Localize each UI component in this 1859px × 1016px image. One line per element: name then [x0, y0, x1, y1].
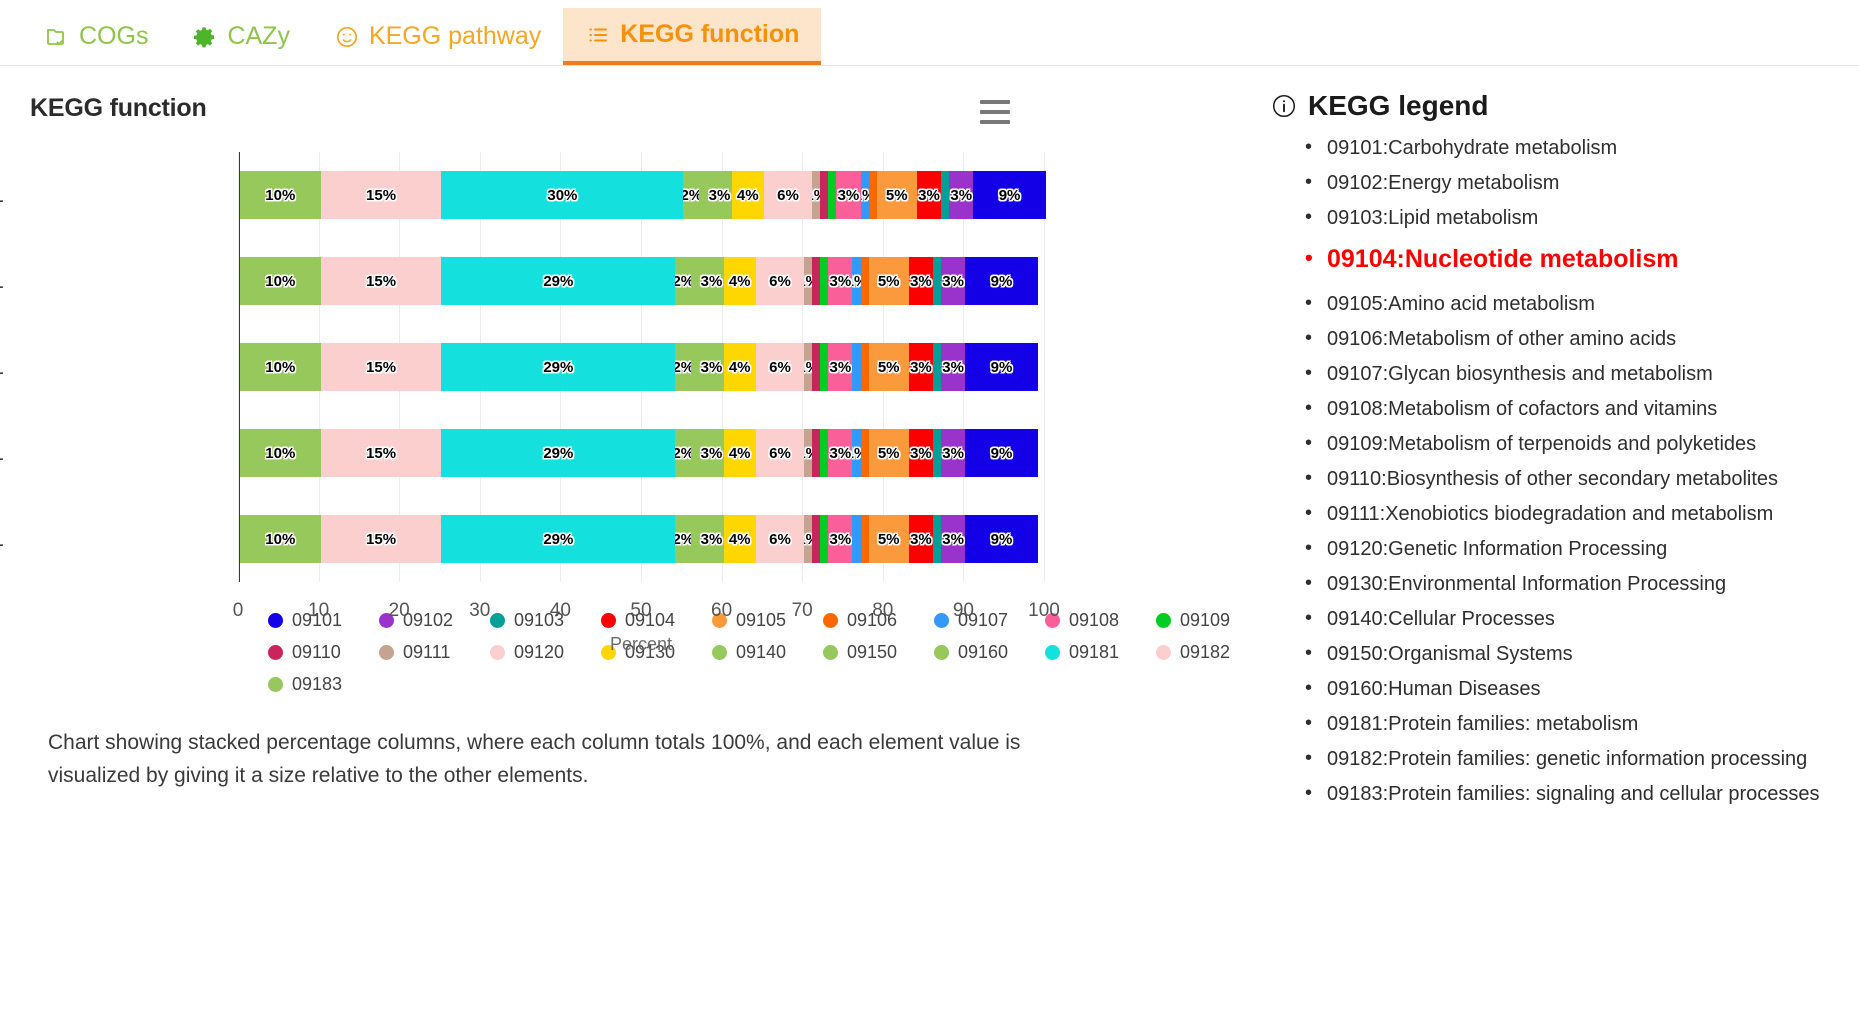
x-axis-tick: 10: [308, 600, 329, 622]
bar-segment[interactable]: [852, 343, 860, 391]
bar-segment[interactable]: [691, 515, 699, 563]
bar-segment[interactable]: 3%: [699, 343, 723, 391]
series-legend-item[interactable]: 09109: [1156, 604, 1267, 636]
bar-segment-label: 4%: [729, 445, 751, 462]
bar-segment[interactable]: [861, 515, 869, 563]
bar-segment[interactable]: 4%: [724, 515, 756, 563]
bar-segment[interactable]: 1%: [852, 257, 860, 305]
bar-segment[interactable]: 5%: [869, 429, 909, 477]
bar-segment[interactable]: 3%: [699, 429, 723, 477]
bar-segment-label: 3%: [910, 359, 932, 376]
bar-segment[interactable]: 3%: [828, 343, 852, 391]
bar-segment[interactable]: 10%: [240, 257, 321, 305]
bar-segment[interactable]: 2%: [675, 515, 691, 563]
list-icon: [585, 22, 611, 48]
bar-segment[interactable]: 9%: [973, 171, 1046, 219]
bar-segment[interactable]: 3%: [949, 171, 973, 219]
bar-segment-label: 1%: [852, 445, 860, 462]
bar-segment-label: 3%: [830, 531, 852, 548]
bar-segment[interactable]: 5%: [869, 343, 909, 391]
bar-segment-label: 3%: [942, 531, 964, 548]
tab-kegg-pathway[interactable]: KEGG pathway: [312, 8, 563, 65]
bar-segment[interactable]: 3%: [699, 515, 723, 563]
bar-segment-label: 3%: [838, 187, 860, 204]
kegg-legend-item[interactable]: 09182:Protein families: genetic informat…: [1323, 745, 1859, 773]
bar-segment-label: 6%: [769, 359, 791, 376]
info-circle-icon: [1271, 93, 1297, 119]
gear-icon: [192, 24, 218, 50]
bar-segment[interactable]: [941, 171, 949, 219]
tab-label: KEGG pathway: [369, 22, 541, 51]
bar-segment[interactable]: [820, 429, 828, 477]
series-legend-label: 09105: [736, 610, 786, 631]
bar-segment-label: 3%: [942, 273, 964, 290]
bar-segment-label: 3%: [701, 273, 723, 290]
chart-caption: Chart showing stacked percentage columns…: [48, 726, 1048, 792]
bar-segment[interactable]: [933, 515, 941, 563]
bar-segment[interactable]: [699, 171, 707, 219]
bar-segment-label: 10%: [265, 273, 295, 290]
bar-segment[interactable]: [861, 257, 869, 305]
bar-segment-label: 1%: [804, 359, 812, 376]
bar-segment[interactable]: [861, 343, 869, 391]
bar-segment-label: 3%: [701, 531, 723, 548]
bar-segment-label: 6%: [769, 445, 791, 462]
tab-label: KEGG function: [620, 20, 799, 49]
bar-segment-label: 15%: [366, 273, 396, 290]
kegg-legend-item[interactable]: 09111:Xenobiotics biodegradation and met…: [1323, 500, 1859, 528]
bar-row: 10%15%29%2%3%4%6%1%3%5%3%3%9%: [240, 515, 1038, 563]
series-legend-swatch: [490, 613, 505, 628]
bar-segment-label: 10%: [265, 445, 295, 462]
bar-segment-label: 1%: [812, 187, 820, 204]
bar-segment-label: 3%: [910, 531, 932, 548]
bar-segment-label: 4%: [729, 359, 751, 376]
series-legend-swatch: [268, 613, 283, 628]
series-legend-swatch: [823, 613, 838, 628]
bar-segment-label: 3%: [830, 273, 852, 290]
bar-segment-label: 29%: [543, 273, 573, 290]
bar-segment[interactable]: 5%: [877, 171, 917, 219]
folder-check-icon: [44, 24, 70, 50]
bar-row: 10%15%29%2%3%4%6%1%3%1%5%3%3%9%: [240, 257, 1038, 305]
y-axis-label: GCA_000154385.1: [0, 343, 4, 391]
bar-segment[interactable]: 6%: [756, 429, 804, 477]
bar-segment[interactable]: 3%: [909, 343, 933, 391]
bar-segment[interactable]: 3%: [941, 515, 965, 563]
bar-segment[interactable]: 4%: [724, 343, 756, 391]
x-axis-tick: 0: [233, 600, 244, 622]
bar-segment-label: 4%: [729, 531, 751, 548]
bar-segment-label: 3%: [950, 187, 972, 204]
bar-segment[interactable]: 3%: [699, 257, 723, 305]
bar-segment[interactable]: 3%: [836, 171, 860, 219]
bar-segment-label: 3%: [701, 359, 723, 376]
bar-segment[interactable]: 5%: [869, 257, 909, 305]
bar-segment[interactable]: 1%: [852, 429, 860, 477]
bar-segment[interactable]: [691, 429, 699, 477]
bar-segment[interactable]: 15%: [321, 429, 442, 477]
series-legend-swatch: [601, 613, 616, 628]
tab-bar: COGs CAZy KEGG pathway: [0, 0, 1859, 66]
bar-segment[interactable]: 3%: [941, 343, 965, 391]
bar-segment-label: 15%: [366, 187, 396, 204]
x-axis-tick: 40: [550, 600, 571, 622]
series-legend-label: 09109: [1180, 610, 1230, 631]
bar-segment-label: 2%: [675, 445, 691, 462]
series-legend-label: 09108: [1069, 610, 1119, 631]
kegg-legend-item[interactable]: 09103:Lipid metabolism: [1323, 204, 1859, 232]
page-title: KEGG function: [30, 94, 207, 123]
bar-segment-label: 15%: [366, 359, 396, 376]
chart-header: KEGG function: [30, 94, 1235, 124]
bar-segment-label: 4%: [737, 187, 759, 204]
bar-segment-label: 9%: [999, 187, 1021, 204]
bar-segment[interactable]: 9%: [965, 429, 1038, 477]
plot-area: 10%15%30%2%3%4%6%1%3%1%5%3%3%9%GCA_00254…: [238, 152, 1044, 582]
bar-segment-label: 2%: [675, 273, 691, 290]
bar-segment[interactable]: 1%: [804, 257, 812, 305]
bar-segment[interactable]: 2%: [675, 429, 691, 477]
bar-segment-label: 3%: [942, 359, 964, 376]
bar-segment[interactable]: 4%: [724, 429, 756, 477]
bar-segment[interactable]: 1%: [812, 171, 820, 219]
bar-segment[interactable]: 3%: [941, 429, 965, 477]
bar-segment-label: 15%: [366, 445, 396, 462]
bar-segment[interactable]: [820, 171, 828, 219]
kegg-legend-item[interactable]: 09107:Glycan biosynthesis and metabolism: [1323, 360, 1859, 388]
bar-segment-label: 3%: [830, 445, 852, 462]
bar-segment[interactable]: 2%: [675, 343, 691, 391]
x-axis-tick: 30: [469, 600, 490, 622]
kegg-legend-item-highlighted[interactable]: 09104:Nucleotide metabolism: [1323, 242, 1859, 277]
bar-segment[interactable]: 2%: [683, 171, 699, 219]
x-axis-tick: 90: [953, 600, 974, 622]
tab-cazy[interactable]: CAZy: [170, 8, 312, 65]
gridline: [238, 152, 239, 582]
series-legend-label: 09181: [1069, 642, 1119, 663]
bar-segment-label: 1%: [804, 531, 812, 548]
bar-segment[interactable]: 9%: [965, 515, 1038, 563]
bar-segment-label: 1%: [852, 273, 860, 290]
series-legend-swatch: [1045, 645, 1060, 660]
bar-segment[interactable]: 6%: [756, 343, 804, 391]
bar-segment[interactable]: 3%: [909, 257, 933, 305]
bar-segment-label: 3%: [701, 445, 723, 462]
bar-segment[interactable]: 6%: [756, 515, 804, 563]
bar-segment[interactable]: [820, 257, 828, 305]
bar-segment-label: 9%: [991, 273, 1013, 290]
bar-segment-label: 6%: [777, 187, 799, 204]
kegg-legend-item[interactable]: 09102:Energy metabolism: [1323, 169, 1859, 197]
bar-segment[interactable]: [812, 429, 820, 477]
tab-cogs[interactable]: COGs: [22, 8, 170, 65]
kegg-legend-item[interactable]: 09105:Amino acid metabolism: [1323, 290, 1859, 318]
bar-segment-label: 29%: [543, 531, 573, 548]
kegg-legend-item[interactable]: 09108:Metabolism of cofactors and vitami…: [1323, 395, 1859, 423]
series-legend-item[interactable]: 09104: [601, 604, 712, 636]
bar-segment[interactable]: 3%: [941, 257, 965, 305]
bar-segment-label: 2%: [675, 359, 691, 376]
tab-label: COGs: [79, 22, 148, 51]
x-axis-tick: 80: [872, 600, 893, 622]
kegg-legend-item[interactable]: 09120:Genetic Information Processing: [1323, 535, 1859, 563]
bar-segment[interactable]: 10%: [240, 429, 321, 477]
x-axis-tick: 20: [389, 600, 410, 622]
series-legend-swatch: [934, 613, 949, 628]
smiley-icon: [334, 24, 360, 50]
bar-segment[interactable]: 1%: [804, 343, 812, 391]
bar-row: 10%15%29%2%3%4%6%1%3%1%5%3%3%9%: [240, 429, 1038, 477]
bar-segment[interactable]: [691, 343, 699, 391]
bar-segment[interactable]: 1%: [861, 171, 869, 219]
tab-kegg-function[interactable]: KEGG function: [563, 8, 821, 65]
kegg-legend-item[interactable]: 09160:Human Diseases: [1323, 675, 1859, 703]
bar-segment[interactable]: [820, 343, 828, 391]
x-axis-tick: 60: [711, 600, 732, 622]
bar-segment-label: 2%: [683, 187, 699, 204]
bar-segment[interactable]: 15%: [321, 171, 442, 219]
series-legend-item[interactable]: 09182: [1156, 636, 1267, 668]
bar-segment[interactable]: [861, 429, 869, 477]
bar-segment[interactable]: 3%: [917, 171, 941, 219]
bar-segment-label: 5%: [878, 273, 900, 290]
series-legend-label: 09102: [403, 610, 453, 631]
bar-segment[interactable]: 3%: [828, 429, 852, 477]
bar-segment[interactable]: 3%: [828, 257, 852, 305]
bar-segment[interactable]: 29%: [441, 515, 675, 563]
bar-segment-label: 10%: [265, 359, 295, 376]
bar-segment-label: 5%: [878, 359, 900, 376]
chart-panel: KEGG function 10%15%30%2%3%4%6%1%3%1%5%3…: [0, 66, 1265, 815]
bar-row: 10%15%30%2%3%4%6%1%3%1%5%3%3%9%: [240, 171, 1046, 219]
bar-segment[interactable]: [691, 257, 699, 305]
series-legend-label: 09183: [292, 674, 342, 695]
bar-segment[interactable]: 15%: [321, 257, 442, 305]
y-axis-label: GCA_902373685.1: [0, 515, 4, 563]
legend-title-text: KEGG legend: [1308, 90, 1488, 122]
bar-segment[interactable]: 15%: [321, 343, 442, 391]
bar-row: 10%15%29%2%3%4%6%1%3%5%3%3%9%: [240, 343, 1038, 391]
x-axis-tick: 50: [630, 600, 651, 622]
bar-segment-label: 1%: [861, 187, 869, 204]
bar-segment[interactable]: [933, 343, 941, 391]
bar-segment-label: 3%: [910, 273, 932, 290]
bar-segment[interactable]: [933, 429, 941, 477]
series-legend-swatch: [268, 677, 283, 692]
bar-segment[interactable]: 1%: [804, 515, 812, 563]
bar-segment[interactable]: [933, 257, 941, 305]
bar-segment-label: 9%: [991, 445, 1013, 462]
y-axis-label: GCA_000209855.1: [0, 257, 4, 305]
bar-segment-label: 3%: [918, 187, 940, 204]
bar-segment-label: 5%: [878, 445, 900, 462]
kegg-legend-item[interactable]: 09106:Metabolism of other amino acids: [1323, 325, 1859, 353]
chart-card: KEGG function 10%15%30%2%3%4%6%1%3%1%5%3…: [0, 66, 1265, 792]
bar-segment[interactable]: 1%: [804, 429, 812, 477]
bar-segment[interactable]: 6%: [764, 171, 812, 219]
bar-segment-label: 3%: [942, 445, 964, 462]
bar-segment[interactable]: [852, 515, 860, 563]
kegg-legend-item[interactable]: 09109:Metabolism of terpenoids and polyk…: [1323, 430, 1859, 458]
series-legend-swatch: [1156, 645, 1171, 660]
bar-segment-label: 29%: [543, 359, 573, 376]
kegg-legend-title: KEGG legend: [1271, 90, 1859, 122]
bar-segment-label: 10%: [265, 187, 295, 204]
bar-segment[interactable]: 9%: [965, 343, 1038, 391]
y-axis-label: GCA_002549935.1: [0, 171, 4, 219]
bar-segment-label: 4%: [729, 273, 751, 290]
bar-segment[interactable]: 9%: [965, 257, 1038, 305]
bar-segment-label: 3%: [709, 187, 731, 204]
kegg-legend-item[interactable]: 09150:Organismal Systems: [1323, 640, 1859, 668]
bar-segment[interactable]: 2%: [675, 257, 691, 305]
page-body: KEGG function 10%15%30%2%3%4%6%1%3%1%5%3…: [0, 66, 1859, 815]
bar-segment-label: 30%: [547, 187, 577, 204]
bar-segment[interactable]: 4%: [732, 171, 764, 219]
bar-segment-label: 9%: [991, 359, 1013, 376]
bar-segment[interactable]: 15%: [321, 515, 442, 563]
bar-segment[interactable]: 30%: [441, 171, 683, 219]
y-axis-label: GCA_014868615.1: [0, 429, 4, 477]
bar-segment-label: 3%: [830, 359, 852, 376]
bar-segment[interactable]: 3%: [828, 515, 852, 563]
bar-segment-label: 1%: [804, 273, 812, 290]
hamburger-menu-icon[interactable]: [980, 100, 1010, 124]
kegg-legend-item[interactable]: 09130:Environmental Information Processi…: [1323, 570, 1859, 598]
bar-segment-label: 15%: [366, 531, 396, 548]
bar-segment[interactable]: 3%: [707, 171, 731, 219]
kegg-legend-item[interactable]: 09110:Biosynthesis of other secondary me…: [1323, 465, 1859, 493]
bar-segment[interactable]: 4%: [724, 257, 756, 305]
bar-segment-label: 29%: [543, 445, 573, 462]
series-legend-label: 09182: [1180, 642, 1230, 663]
kegg-legend-item[interactable]: 09181:Protein families: metabolism: [1323, 710, 1859, 738]
series-legend-item[interactable]: 09183: [268, 668, 379, 700]
kegg-legend-panel: KEGG legend 09101:Carbohydrate metabolis…: [1265, 66, 1859, 815]
series-legend-item[interactable]: 09181: [1045, 636, 1156, 668]
bar-segment-label: 5%: [886, 187, 908, 204]
tab-label: CAZy: [227, 22, 290, 51]
series-legend-swatch: [1156, 613, 1171, 628]
x-axis-tick: 70: [792, 600, 813, 622]
bar-segment-label: 10%: [265, 531, 295, 548]
bar-segment[interactable]: [828, 171, 836, 219]
x-axis-tick: 100: [1028, 600, 1060, 622]
bar-segment[interactable]: 5%: [869, 515, 909, 563]
bar-segment[interactable]: 10%: [240, 171, 321, 219]
bar-segment-label: 6%: [769, 531, 791, 548]
bar-segment[interactable]: 6%: [756, 257, 804, 305]
series-legend-item[interactable]: 09108: [1045, 604, 1156, 636]
bar-segment-label: 5%: [878, 531, 900, 548]
kegg-legend-item[interactable]: 09140:Cellular Processes: [1323, 605, 1859, 633]
bar-segment[interactable]: 3%: [909, 515, 933, 563]
bar-segment[interactable]: [869, 171, 877, 219]
bar-segment-label: 3%: [910, 445, 932, 462]
bar-segment-label: 2%: [675, 531, 691, 548]
x-axis-title: Percent: [238, 634, 1044, 655]
kegg-legend-item[interactable]: 09183:Protein families: signaling and ce…: [1323, 780, 1859, 808]
bar-segment-label: 9%: [991, 531, 1013, 548]
kegg-legend-item[interactable]: 09101:Carbohydrate metabolism: [1323, 134, 1859, 162]
bar-segment[interactable]: [812, 257, 820, 305]
bar-segment[interactable]: 29%: [441, 429, 675, 477]
bar-segment[interactable]: [812, 343, 820, 391]
bar-segment[interactable]: 29%: [441, 343, 675, 391]
kegg-legend-list: 09101:Carbohydrate metabolism09102:Energ…: [1265, 134, 1859, 808]
series-legend-item[interactable]: 09103: [490, 604, 601, 636]
bar-segment-label: 6%: [769, 273, 791, 290]
bar-segment[interactable]: 29%: [441, 257, 675, 305]
bar-segment[interactable]: 10%: [240, 515, 321, 563]
bar-segment[interactable]: [812, 515, 820, 563]
bar-segment[interactable]: 10%: [240, 343, 321, 391]
stacked-bar-chart: 10%15%30%2%3%4%6%1%3%1%5%3%3%9%GCA_00254…: [30, 152, 1235, 604]
bar-segment[interactable]: 3%: [909, 429, 933, 477]
bar-segment-label: 1%: [804, 445, 812, 462]
bar-segment[interactable]: [820, 515, 828, 563]
